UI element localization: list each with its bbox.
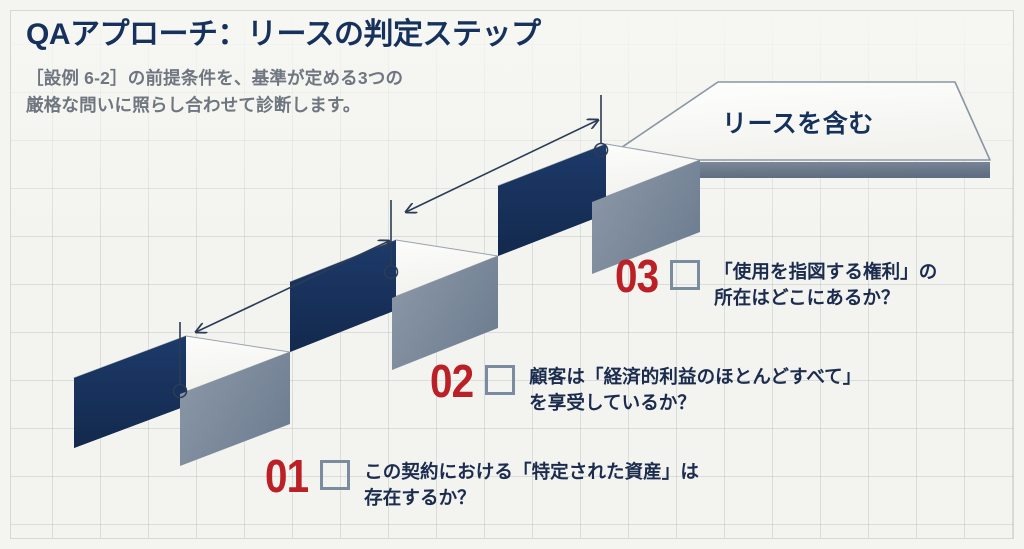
step-text-01: この契約における「特定された資産」は 存在するか？: [364, 455, 699, 512]
step-number-03: 03: [615, 255, 658, 297]
subtitle-line-1: ［設例 6-2］の前提条件を、基準が定める3つの: [26, 65, 666, 92]
subtitle-line-2: 厳格な問いに照らし合わせて診断します。: [26, 92, 666, 119]
step-checkbox-01[interactable]: [320, 460, 350, 490]
step-text-01-line-2: 存在するか？: [364, 485, 699, 511]
step-text-02: 顧客は「経済的利益のほとんどすべて」 を享受しているか？: [529, 360, 861, 417]
page-title: QAアプローチ：リースの判定ステップ: [26, 18, 666, 53]
page-subtitle: ［設例 6-2］の前提条件を、基準が定める3つの 厳格な問いに照らし合わせて診断…: [26, 65, 666, 119]
step-callout-02[interactable]: 02 顧客は「経済的利益のほとんどすべて」 を享受しているか？: [430, 360, 861, 417]
slide-canvas: QAアプローチ：リースの判定ステップ ［設例 6-2］の前提条件を、基準が定める…: [0, 0, 1024, 549]
step-text-02-line-2: を享受しているか？: [529, 390, 861, 416]
step-text-01-line-1: この契約における「特定された資産」は: [364, 459, 699, 485]
platform-label: リースを含む: [722, 104, 874, 140]
step-number-02: 02: [430, 360, 473, 402]
step-checkbox-02[interactable]: [485, 365, 515, 395]
step-callout-01[interactable]: 01 この契約における「特定された資産」は 存在するか？: [265, 455, 699, 512]
step-text-03-line-1: 「使用を指図する権利」の: [714, 259, 937, 285]
header-block: QAアプローチ：リースの判定ステップ ［設例 6-2］の前提条件を、基準が定める…: [26, 18, 666, 119]
step-text-03: 「使用を指図する権利」の 所在はどこにあるか？: [714, 255, 937, 312]
step-number-01: 01: [265, 455, 308, 497]
step-text-03-line-2: 所在はどこにあるか？: [714, 285, 937, 311]
step-text-02-line-1: 顧客は「経済的利益のほとんどすべて」: [529, 364, 861, 390]
step-callout-03[interactable]: 03 「使用を指図する権利」の 所在はどこにあるか？: [615, 255, 937, 312]
step-checkbox-03[interactable]: [670, 260, 700, 290]
